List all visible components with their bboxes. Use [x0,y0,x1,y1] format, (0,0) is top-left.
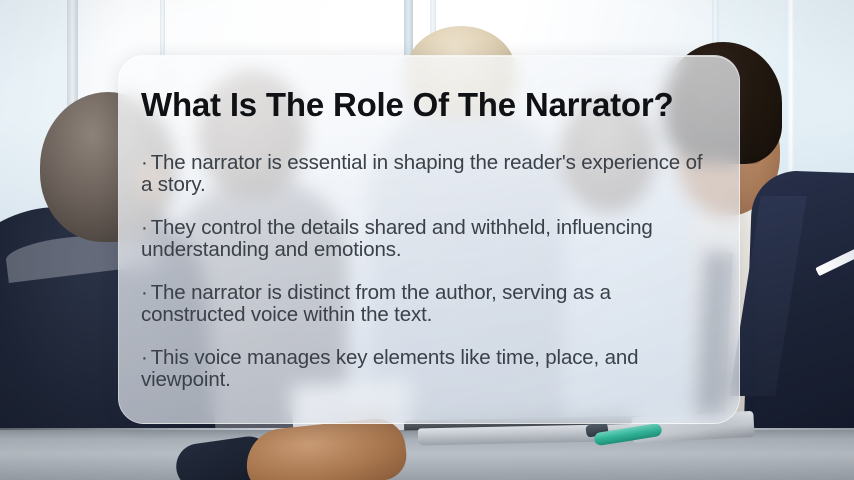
bullet-text: The narrator is distinct from the author… [141,281,611,326]
slide-title: What Is The Role Of The Narrator? [141,86,707,124]
bullet-item: ·The narrator is essential in shaping th… [141,152,707,195]
bullet-marker-icon: · [141,216,148,239]
bullet-text: This voice manages key elements like tim… [141,346,638,391]
bullet-marker-icon: · [141,346,148,369]
bullet-item: ·The narrator is distinct from the autho… [141,282,707,325]
slide-screen: What Is The Role Of The Narrator? ·The n… [0,0,854,480]
bullet-item: ·This voice manages key elements like ti… [141,347,707,390]
bullet-list: ·The narrator is essential in shaping th… [141,152,707,390]
bullet-marker-icon: · [141,151,148,174]
content-card-inner: What Is The Role Of The Narrator? ·The n… [119,56,739,390]
bullet-text: They control the details shared and with… [141,216,653,261]
bullet-text: The narrator is essential in shaping the… [141,151,702,196]
bullet-item: ·They control the details shared and wit… [141,217,707,260]
content-card: What Is The Role Of The Narrator? ·The n… [118,55,740,424]
bullet-marker-icon: · [141,281,148,304]
